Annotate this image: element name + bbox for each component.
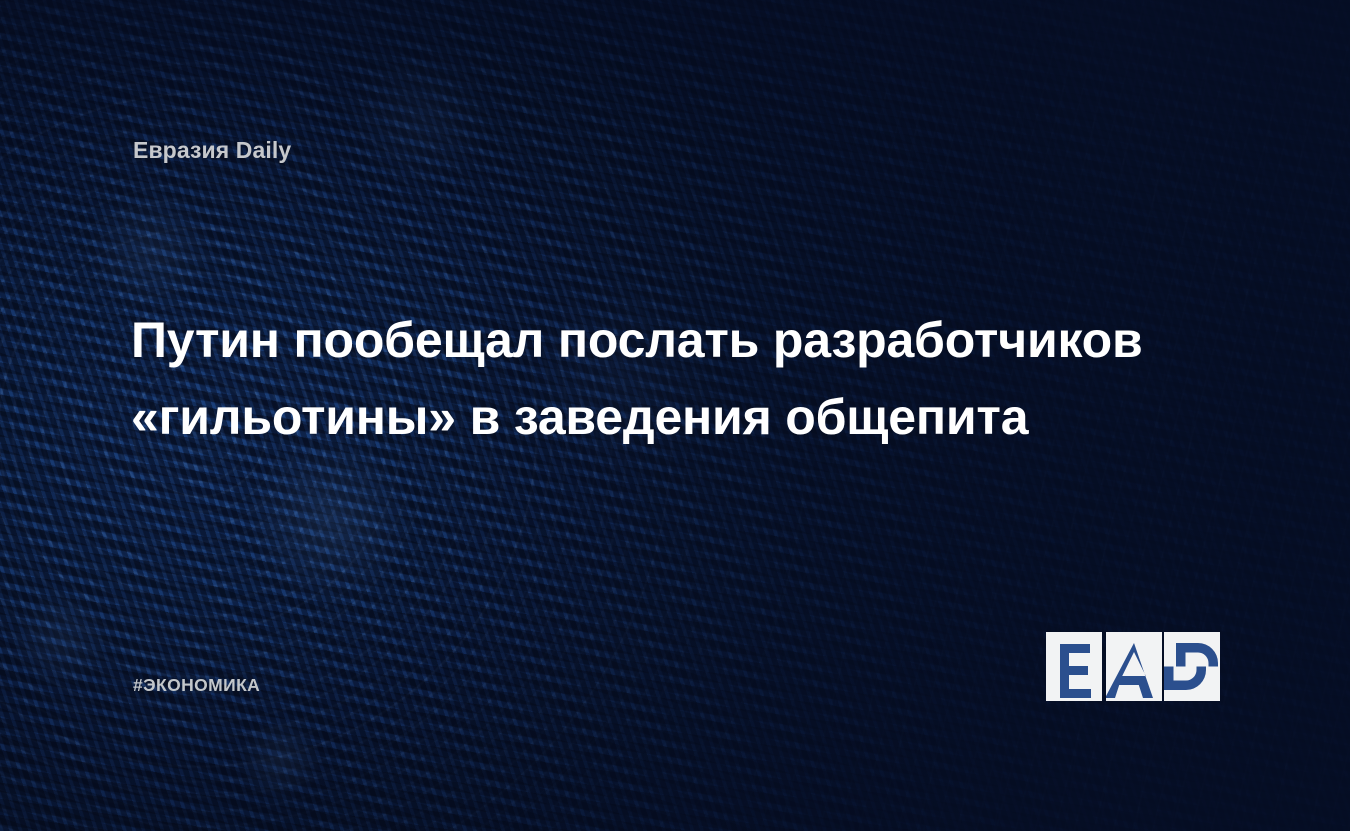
category-tag[interactable]: #ЭКОНОМИКА (133, 675, 260, 696)
letter-a-icon (1106, 632, 1162, 701)
split-letter-d-icon (1158, 632, 1226, 701)
letter-e-icon (1046, 632, 1102, 701)
article-share-card: Евразия Daily Путин пообещал послать раз… (0, 0, 1350, 831)
eadaily-logo[interactable] (1046, 632, 1220, 701)
site-name: Евразия Daily (133, 137, 291, 164)
card-content: Евразия Daily Путин пообещал послать раз… (0, 0, 1350, 831)
article-headline: Путин пообещал послать разработчиков «ги… (131, 302, 1241, 456)
